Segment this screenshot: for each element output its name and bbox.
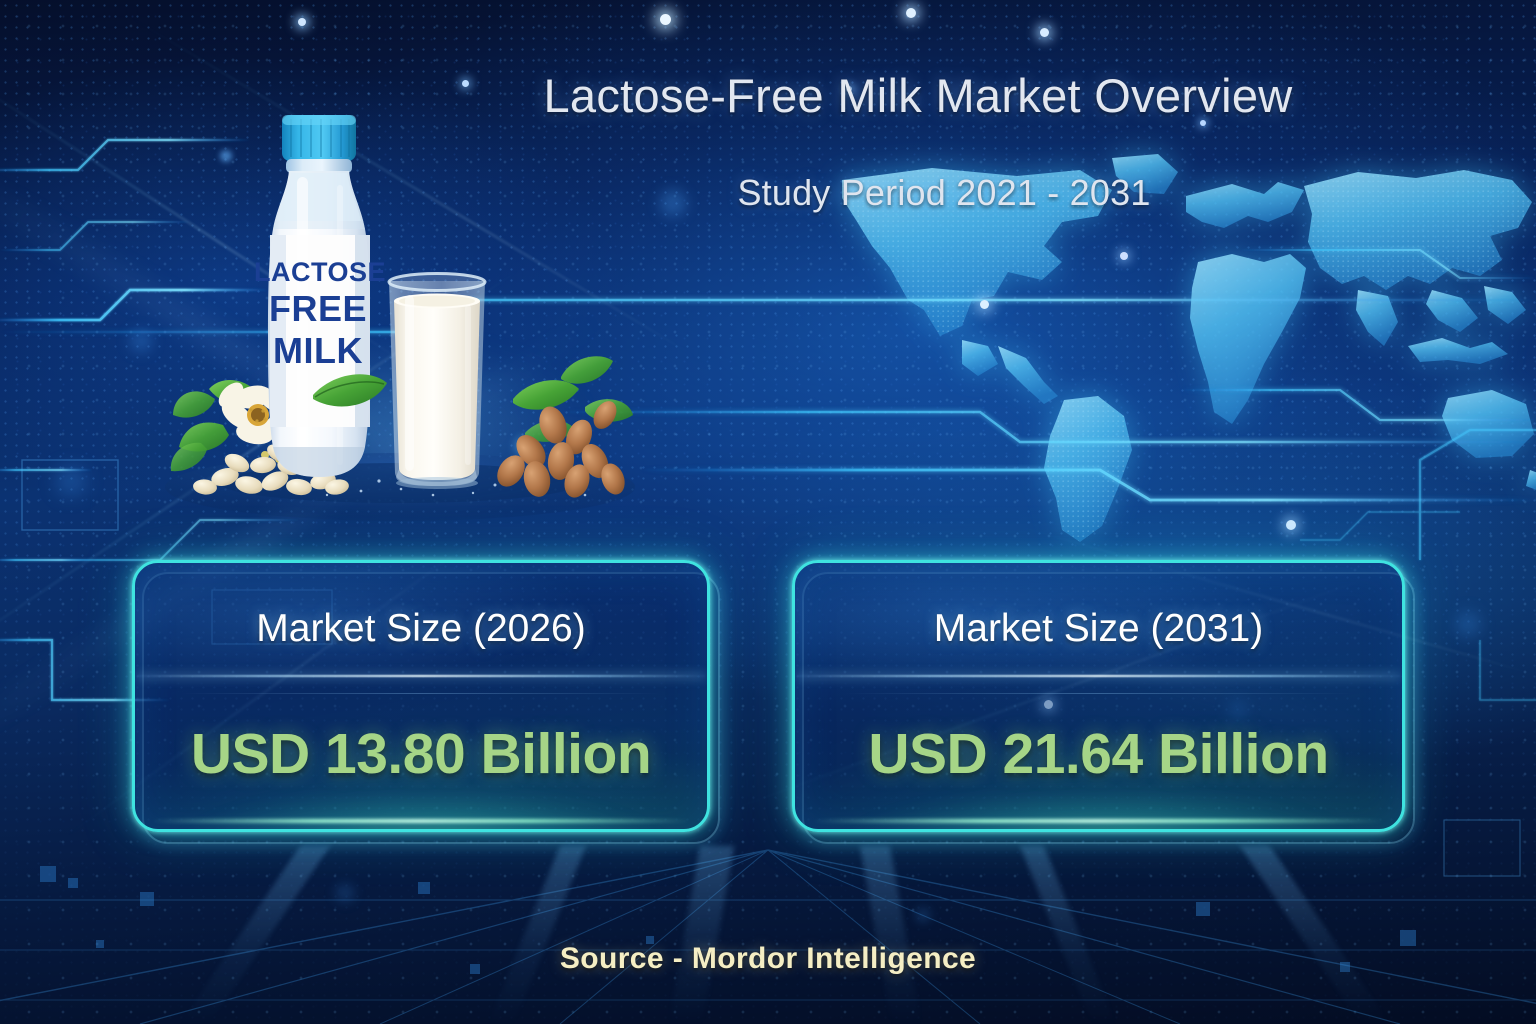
card-title: Market Size (2026) — [135, 607, 707, 651]
bottle-label-line-1: LACTOSE — [254, 257, 386, 287]
bottle-label-line-3: MILK — [273, 330, 363, 371]
bottle-label-line-2: FREE — [269, 288, 367, 329]
stat-card-market-size-2031[interactable]: Market Size (2031) USD 21.64 Billion — [792, 560, 1405, 832]
study-period-subtitle: Study Period 2021 - 2031 — [0, 172, 1536, 214]
card-divider-secondary — [181, 693, 662, 694]
card-body: Market Size (2031) USD 21.64 Billion — [792, 560, 1405, 832]
stat-card-market-size-2026[interactable]: Market Size (2026) USD 13.80 Billion — [132, 560, 710, 832]
card-value: USD 13.80 Billion — [135, 721, 707, 787]
card-value: USD 21.64 Billion — [795, 721, 1402, 787]
page-title: Lactose-Free Milk Market Overview — [0, 68, 1536, 123]
infographic-canvas: LACTOSE FREE MILK — [0, 0, 1536, 1024]
card-body: Market Size (2026) USD 13.80 Billion — [132, 560, 710, 832]
card-title: Market Size (2031) — [795, 607, 1402, 651]
card-bottom-highlight — [813, 819, 1384, 823]
card-divider — [797, 675, 1400, 677]
card-bottom-highlight — [152, 819, 690, 823]
card-divider-secondary — [844, 693, 1354, 694]
product-photo-lactose-free-milk: LACTOSE FREE MILK — [165, 95, 635, 515]
card-divider — [137, 675, 705, 677]
source-attribution: Source - Mordor Intelligence — [0, 942, 1536, 976]
